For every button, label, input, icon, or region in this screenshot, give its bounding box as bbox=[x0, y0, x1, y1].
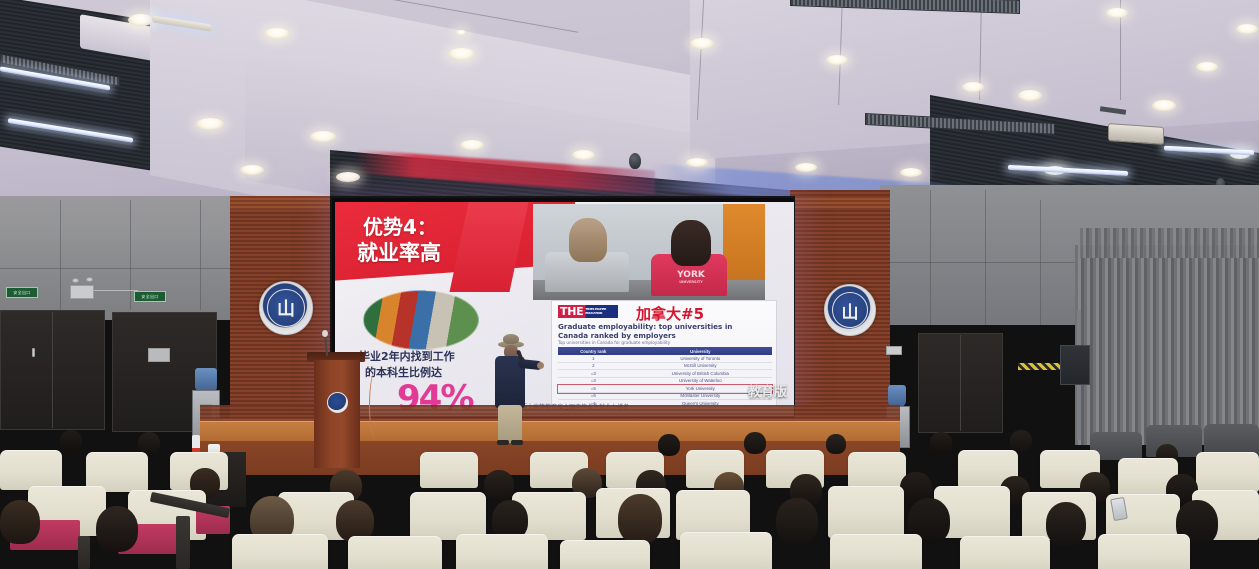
ceiling-downlight bbox=[826, 55, 848, 65]
header-country-rank: Country rank bbox=[558, 347, 629, 355]
ceiling-downlight bbox=[264, 28, 290, 39]
slide-oval-collage bbox=[363, 290, 479, 350]
door-right-split bbox=[960, 335, 961, 431]
wall-emblem-right-glyph: 山 bbox=[842, 298, 859, 323]
cell-rank: =6 bbox=[558, 393, 629, 400]
water-bottle-right bbox=[888, 385, 906, 407]
podium bbox=[314, 360, 360, 468]
ceiling-downlight bbox=[1236, 24, 1258, 34]
seat[interactable] bbox=[830, 534, 922, 569]
table-row: 1 University of Toronto bbox=[558, 355, 772, 363]
ranking-card: THE TIMES HIGHER EDUCATION 加拿大#5 Graduat… bbox=[551, 300, 777, 410]
slide-watermark: 教育版 bbox=[748, 381, 787, 400]
wall-emblem-left-inner: 山 bbox=[267, 289, 304, 326]
audience-head bbox=[138, 432, 160, 454]
presenter-shoe bbox=[511, 440, 523, 445]
ceiling-downlight bbox=[900, 168, 922, 177]
seat[interactable] bbox=[410, 492, 486, 540]
wall-switch-right[interactable] bbox=[886, 346, 902, 355]
seat[interactable] bbox=[232, 534, 328, 569]
table-row: 2 McGill University bbox=[558, 363, 772, 371]
ceiling-downlight bbox=[795, 163, 817, 172]
ceiling-downlight bbox=[1018, 90, 1042, 101]
ceiling-downlight bbox=[128, 14, 154, 26]
stage-curtain-right bbox=[1075, 245, 1259, 445]
presenter-hat bbox=[503, 334, 519, 344]
the-logo-sub: TIMES HIGHER EDUCATION bbox=[585, 308, 606, 315]
presenter-shoe bbox=[497, 440, 509, 445]
wall-seam bbox=[930, 190, 931, 325]
card-headline-line2: Canada ranked by employers bbox=[558, 331, 676, 340]
ceiling-downlight bbox=[240, 165, 264, 175]
presenter-hand bbox=[537, 362, 544, 369]
wall-seam bbox=[200, 200, 201, 310]
ceiling-downlight bbox=[1106, 8, 1128, 18]
presentation-slide: 优势4： 就业率高 YORK UNIVERSITY 毕业2年内找到工作 的本科生… bbox=[335, 202, 794, 416]
ceiling-downlight bbox=[196, 118, 224, 130]
seat[interactable] bbox=[828, 486, 904, 538]
audience-head bbox=[618, 494, 662, 544]
ceiling-downlight bbox=[962, 82, 984, 92]
wall-sensor bbox=[86, 277, 93, 282]
wall-emblem-left-glyph: 山 bbox=[277, 295, 295, 321]
seat[interactable] bbox=[1196, 452, 1259, 492]
photo-hoodie-text: YORK bbox=[663, 270, 719, 280]
slide-body-line1: 毕业2年内找到工作 bbox=[359, 348, 455, 364]
ceiling-downlight bbox=[336, 172, 360, 182]
ceiling-downlight bbox=[448, 48, 475, 60]
card-subheadline: Top universities in Canada for graduate … bbox=[558, 340, 772, 345]
card-headline: Graduate employability: top universities… bbox=[558, 323, 772, 340]
door-handle[interactable] bbox=[32, 348, 35, 357]
wall-sensor bbox=[72, 278, 79, 283]
photo-person-left-head bbox=[569, 218, 607, 262]
exit-sign-right-label: 安全出口 bbox=[141, 294, 158, 300]
cell-university: McGill University bbox=[629, 363, 772, 370]
led-screen: 优势4： 就业率高 YORK UNIVERSITY 毕业2年内找到工作 的本科生… bbox=[330, 196, 795, 418]
wall-left-lower bbox=[0, 240, 250, 320]
seat[interactable] bbox=[848, 452, 906, 488]
presenter-legs bbox=[498, 405, 522, 443]
card-headline-line1: Graduate employability: top universities… bbox=[558, 322, 732, 331]
wall-control-panel[interactable] bbox=[70, 285, 94, 299]
exit-sign-left-label: 安全出口 bbox=[13, 290, 30, 296]
audience-head bbox=[826, 434, 846, 454]
the-logo-sub-line2: EDUCATION bbox=[585, 311, 602, 315]
table-row-highlighted: =5 York University bbox=[558, 385, 772, 393]
pa-speaker bbox=[1060, 345, 1090, 385]
seat[interactable] bbox=[420, 452, 478, 488]
door-left-split bbox=[52, 312, 53, 428]
table-row: =3 University of Waterloo bbox=[558, 378, 772, 386]
audience-head bbox=[0, 500, 40, 544]
wall-emblem-left: 山 bbox=[259, 281, 313, 335]
ceiling-downlight bbox=[572, 150, 595, 160]
wall-conduit bbox=[92, 290, 138, 291]
audience-head bbox=[744, 432, 766, 454]
water-bottle-top bbox=[195, 368, 217, 392]
ranking-table-header: Country rank University bbox=[558, 347, 772, 355]
audience-head bbox=[484, 470, 514, 500]
hazard-stripe-bar bbox=[1018, 363, 1060, 370]
audience-head bbox=[96, 506, 138, 552]
seat[interactable] bbox=[1098, 534, 1190, 569]
audience-head bbox=[776, 498, 818, 544]
cell-rank: 2 bbox=[558, 363, 629, 370]
seat[interactable] bbox=[0, 450, 62, 490]
card-country-rank-title: 加拿大#5 bbox=[636, 303, 704, 324]
ceiling-downlight bbox=[1196, 62, 1218, 72]
seat[interactable] bbox=[680, 532, 772, 569]
podium-emblem bbox=[327, 392, 348, 413]
cell-university: University of British Columbia bbox=[629, 370, 772, 377]
ceiling-downlight bbox=[686, 158, 708, 167]
podium-microphone-head bbox=[322, 330, 328, 337]
door-sign-plate bbox=[148, 348, 170, 362]
exit-sign-right: 安全出口 bbox=[134, 291, 166, 302]
table-row: =6 McMaster University bbox=[558, 393, 772, 401]
ceiling-projector bbox=[1108, 123, 1164, 145]
audience-head bbox=[1046, 502, 1086, 546]
seat-armrest bbox=[78, 536, 90, 569]
cell-rank: =3 bbox=[558, 370, 629, 377]
cell-university: University of Toronto bbox=[629, 355, 772, 362]
table-row: =3 University of British Columbia bbox=[558, 370, 772, 378]
wall-emblem-right: 山 bbox=[824, 284, 876, 336]
seat-armrest bbox=[176, 516, 190, 569]
wall-emblem-right-inner: 山 bbox=[832, 292, 868, 328]
exit-sign-left: 安全出口 bbox=[6, 287, 38, 298]
seat[interactable] bbox=[560, 540, 650, 569]
audience-head bbox=[1010, 430, 1032, 452]
slide-title-line2: 就业率高 bbox=[357, 242, 441, 266]
header-university: University bbox=[629, 347, 772, 355]
podium-cable bbox=[369, 370, 383, 440]
cell-rank: =3 bbox=[558, 378, 629, 385]
the-logo-text: THE bbox=[560, 305, 583, 318]
lecture-hall-photo: 山 山 安全出口 安全出口 优势4： bbox=[0, 0, 1259, 569]
ceiling-downlight bbox=[460, 140, 484, 150]
stage-curtain-right-upper bbox=[1080, 228, 1259, 258]
ceiling-downlight bbox=[456, 30, 466, 35]
wall-seam bbox=[985, 190, 986, 325]
stage-backdrop-wood bbox=[200, 405, 900, 421]
seat[interactable] bbox=[456, 534, 548, 569]
audience-head bbox=[60, 430, 82, 452]
cell-rank: =5 bbox=[558, 385, 629, 392]
photo-person-right-head bbox=[671, 220, 711, 266]
slide-title-line1: 优势4： bbox=[363, 216, 437, 238]
ceiling-camera-icon bbox=[629, 153, 641, 169]
wall-seam bbox=[130, 200, 131, 310]
seat[interactable] bbox=[960, 536, 1050, 569]
cell-rank: 1 bbox=[558, 355, 629, 362]
ranking-table: Country rank University 1 University of … bbox=[558, 347, 772, 408]
ceiling-downlight bbox=[310, 131, 336, 142]
the-logo: THE TIMES HIGHER EDUCATION bbox=[558, 305, 618, 318]
wall-seam bbox=[60, 200, 61, 310]
ceiling-downlight bbox=[690, 38, 714, 49]
ceiling-downlight bbox=[1152, 100, 1176, 111]
photo-hoodie-subtext: UNIVERSITY bbox=[663, 280, 719, 284]
audience-head bbox=[930, 432, 952, 453]
seat[interactable] bbox=[348, 536, 442, 569]
slide-photo-students: YORK UNIVERSITY bbox=[533, 204, 765, 300]
